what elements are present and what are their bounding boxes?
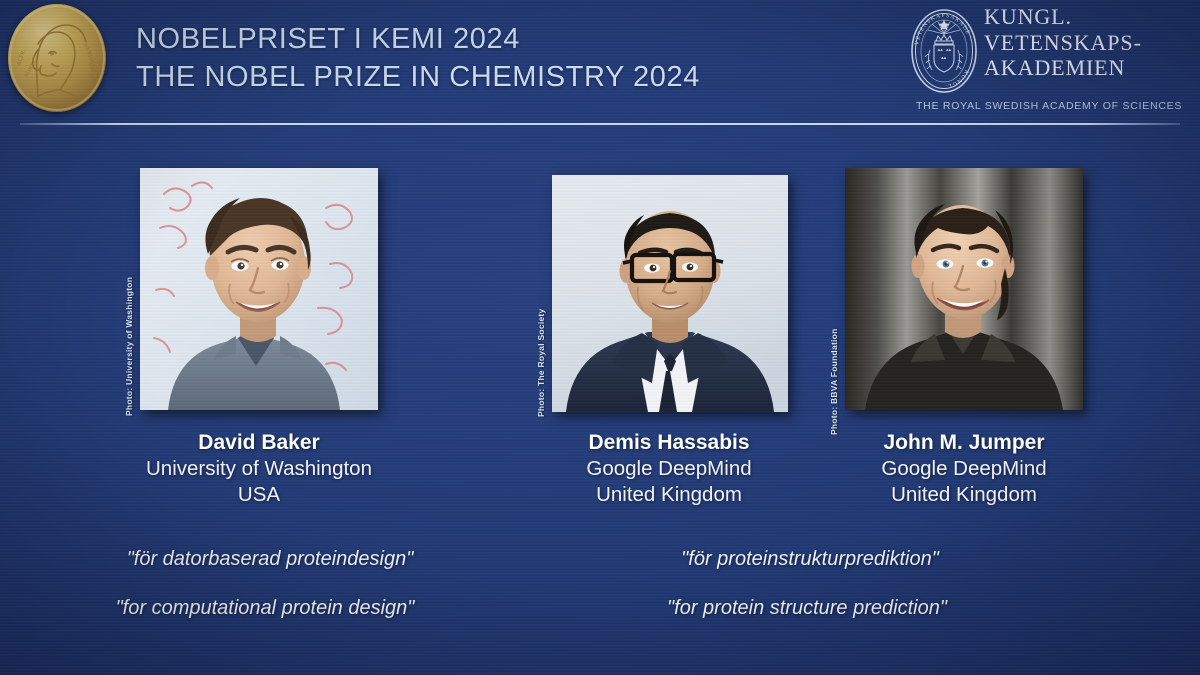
laureate-country: United Kingdom	[500, 482, 838, 508]
portrait-demis-hassabis	[552, 175, 788, 412]
header-divider	[20, 123, 1180, 125]
citation-swedish-baker: "för datorbaserad proteindesign"	[60, 548, 480, 571]
laureate-name: Demis Hassabis	[500, 430, 838, 456]
name-block-demis-hassabis: Demis Hassabis Google DeepMind United Ki…	[500, 430, 838, 508]
laureate-name: John M. Jumper	[795, 430, 1133, 456]
laureate-affiliation: Google DeepMind	[795, 456, 1133, 482]
academy-subtitle: THE ROYAL SWEDISH ACADEMY OF SCIENCES	[916, 100, 1182, 112]
academy-logo-block: VETENSKAPSAKADE KUNGL.	[910, 6, 1182, 118]
citation-english-baker: "for computational protein design"	[55, 597, 475, 620]
academy-name-line-2: VETENSKAPS-	[984, 30, 1184, 56]
academy-name-line-3: AKADEMIEN	[984, 55, 1184, 81]
academy-name: KUNGL. VETENSKAPS- AKADEMIEN	[984, 4, 1184, 81]
academy-name-line-1: KUNGL.	[984, 4, 1184, 30]
portrait-david-baker	[140, 168, 378, 410]
laureate-affiliation: Google DeepMind	[500, 456, 838, 482]
laureate-name: David Baker	[80, 430, 438, 456]
name-block-john-m-jumper: John M. Jumper Google DeepMind United Ki…	[795, 430, 1133, 508]
prize-title-english: THE NOBEL PRIZE IN CHEMISTRY 2024	[136, 58, 700, 96]
nobel-prize-announcement-slide: ALFR. NOBEL NAT. MDCCCXXXIII OB. MDCCCXC…	[0, 0, 1200, 675]
photo-credit-john-m-jumper: Photo: BBVA Foundation	[829, 328, 839, 435]
laureate-affiliation: University of Washington	[80, 456, 438, 482]
nobel-medal-icon: ALFR. NOBEL NAT. MDCCCXXXIII OB. MDCCCXC…	[8, 4, 106, 112]
photo-credit-demis-hassabis: Photo: The Royal Society	[536, 309, 546, 418]
citation-swedish-hassabis-jumper: "för proteinstrukturprediktion"	[600, 548, 1020, 571]
laureate-country: USA	[80, 482, 438, 508]
portrait-john-m-jumper	[845, 168, 1083, 410]
slide-header: ALFR. NOBEL NAT. MDCCCXXXIII OB. MDCCCXC…	[0, 0, 1200, 126]
laureate-country: United Kingdom	[795, 482, 1133, 508]
prize-title-swedish: NOBELPRISET I KEMI 2024	[136, 20, 700, 58]
name-block-david-baker: David Baker University of Washington USA	[80, 430, 438, 508]
photo-credit-david-baker: Photo: University of Washington	[124, 277, 134, 416]
svg-text:KUNGL.: KUNGL.	[944, 68, 969, 89]
citation-english-hassabis-jumper: "for protein structure prediction"	[597, 597, 1017, 620]
royal-swedish-academy-seal-icon: VETENSKAPSAKADE KUNGL.	[910, 8, 978, 94]
prize-title-block: NOBELPRISET I KEMI 2024 THE NOBEL PRIZE …	[136, 20, 700, 96]
